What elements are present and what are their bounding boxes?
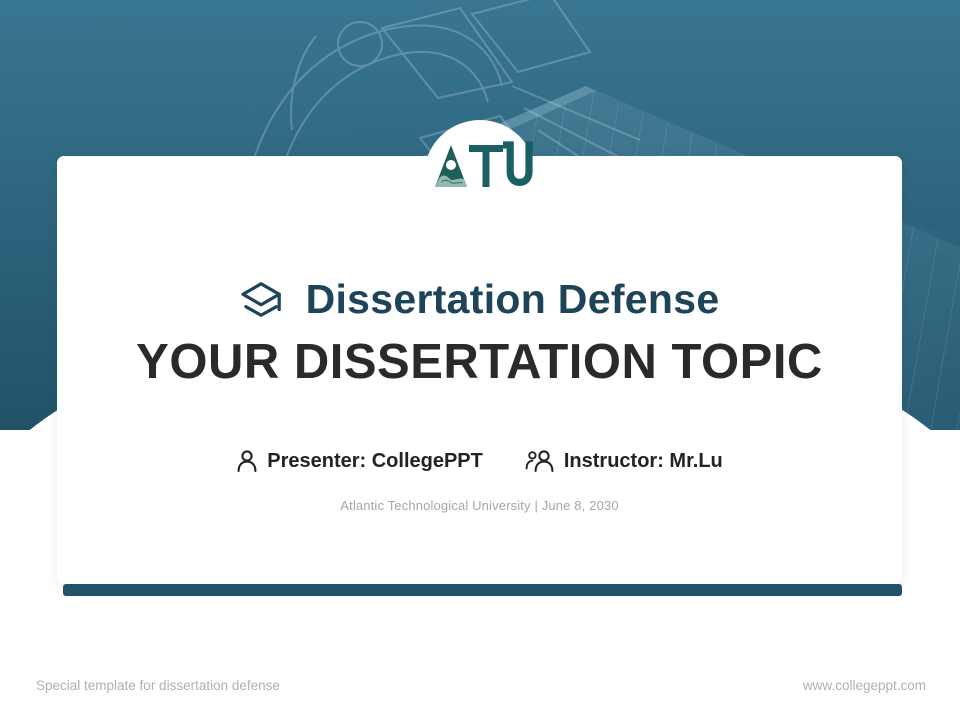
atu-logo-svg <box>433 141 533 193</box>
people-row: Presenter: CollegePPT Instructor: Mr.Lu <box>57 449 902 473</box>
person-icon <box>236 449 258 473</box>
instructor-label: Instructor: Mr.Lu <box>564 450 723 473</box>
presenter-label: Presenter: CollegePPT <box>267 450 483 473</box>
slide-root: Dissertation Defense YOUR DISSERTATION T… <box>0 0 960 720</box>
university-and-date: Atlantic Technological University | June… <box>57 498 902 513</box>
instructor-item: Instructor: Mr.Lu <box>525 449 723 473</box>
footer-left-text: Special template for dissertation defens… <box>36 678 280 693</box>
people-icon <box>525 449 555 473</box>
footer-website: www.collegeppt.com <box>803 678 926 693</box>
atu-logo <box>433 141 533 193</box>
slide-title: Dissertation Defense <box>306 276 720 323</box>
title-row: Dissertation Defense <box>57 276 902 323</box>
presenter-item: Presenter: CollegePPT <box>236 449 483 473</box>
slide-headline: YOUR DISSERTATION TOPIC <box>57 334 902 390</box>
footer: Special template for dissertation defens… <box>0 678 960 700</box>
card-accent-bar <box>63 584 902 596</box>
graduation-cap-icon <box>240 280 286 320</box>
